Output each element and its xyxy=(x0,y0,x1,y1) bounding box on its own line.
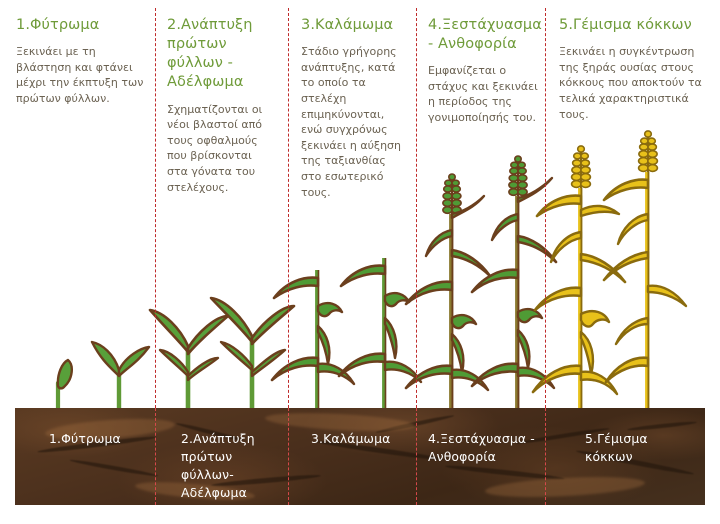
plant-stage-2 xyxy=(150,298,294,410)
growth-stage-diagram: 1.Φύτρωμα Ξεκινάει με τη βλάστηση και φτ… xyxy=(0,0,720,524)
column-divider-2 xyxy=(288,8,289,408)
plant-stage-5 xyxy=(533,131,686,410)
soil-divider-3 xyxy=(416,408,417,505)
wheat-ear-green-b xyxy=(509,156,527,196)
soil-divider-4 xyxy=(545,408,546,505)
soil-label-4: 4.Ξεστάχυασμα - Ανθοφορία xyxy=(428,430,540,466)
column-divider-3 xyxy=(416,8,417,408)
soil-label-3: 3.Καλάμωμα xyxy=(311,430,411,448)
soil-label-1: 1.Φύτρωμα xyxy=(49,430,149,448)
soil-label-2: 2.Ανάπτυξη πρώτων φύλλων- Αδέλφωμα xyxy=(181,430,276,502)
plant-stage-3 xyxy=(272,258,421,410)
wheat-ear-green-a xyxy=(443,174,461,214)
column-divider-4 xyxy=(545,8,546,408)
plant-stage-4 xyxy=(406,156,556,410)
wheat-ear-gold-a xyxy=(572,146,591,188)
column-divider-1 xyxy=(155,8,156,408)
wheat-ear-gold-b xyxy=(639,131,658,172)
soil-label-5: 5.Γέμισμα κόκκων xyxy=(585,430,671,466)
soil-divider-2 xyxy=(288,408,289,505)
soil-divider-1 xyxy=(155,408,156,505)
plant-stage-1 xyxy=(58,342,149,410)
